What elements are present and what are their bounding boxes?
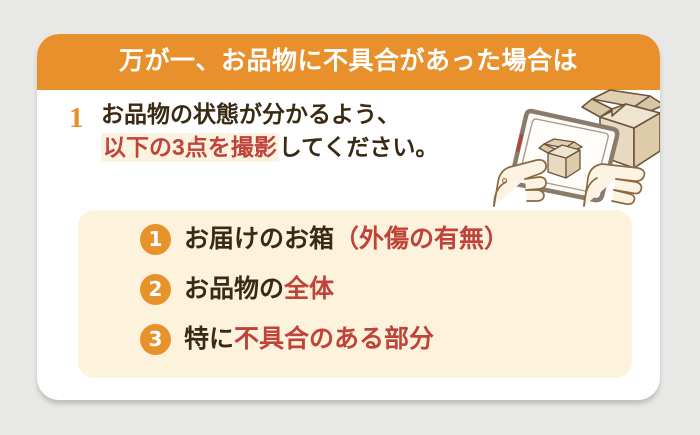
list-item-text: 特に不具合のある部分 [184,327,434,352]
photo-checklist-panel: 1 お届けのお箱（外傷の有無） 2 お品物の全体 3 特に不具合のある部分 [78,210,632,378]
list-item-text-plain: 特に [184,325,234,353]
list-item-number-badge: 2 [140,274,171,305]
card-header: 万が一、お品物に不具合があった場合は [37,34,660,90]
page-root: 万が一、お品物に不具合があった場合は 1 お品物の状態が分かるよう、 以下の3点… [0,0,700,435]
step-line-1-text: お品物の状態が分かるよう、 [101,101,400,127]
list-item-number-badge: 3 [140,324,171,355]
list-item-text: お届けのお箱（外傷の有無） [184,227,509,252]
list-item-text-plain: お届けのお箱 [184,225,334,253]
notice-card: 万が一、お品物に不具合があった場合は 1 お品物の状態が分かるよう、 以下の3点… [37,34,660,400]
list-item-text: お品物の全体 [184,277,334,302]
list-item: 2 お品物の全体 [78,264,632,314]
list-item-number-badge: 1 [140,224,171,255]
step-line-2-rest: してください。 [279,134,439,160]
step-line-2: 以下の3点を撮影してください。 [101,131,531,164]
step-line-2-highlight: 以下の3点を撮影 [101,133,279,162]
step-text-lines: お品物の状態が分かるよう、 以下の3点を撮影してください。 [101,98,531,163]
card-header-title: 万が一、お品物に不具合があった場合は [119,49,578,76]
step-1-block: 1 お品物の状態が分かるよう、 以下の3点を撮影してください。 [37,90,660,208]
list-item: 3 特に不具合のある部分 [78,314,632,364]
list-item: 1 お届けのお箱（外傷の有無） [78,214,632,264]
list-item-text-emphasis: （外傷の有無） [334,225,509,253]
list-item-text-emphasis: 不具合のある部分 [234,325,434,353]
list-item-text-plain: お品物の [184,275,284,303]
list-item-text-emphasis: 全体 [284,275,334,303]
step-line-1: お品物の状態が分かるよう、 [101,98,531,131]
step-number: 1 [69,104,84,133]
